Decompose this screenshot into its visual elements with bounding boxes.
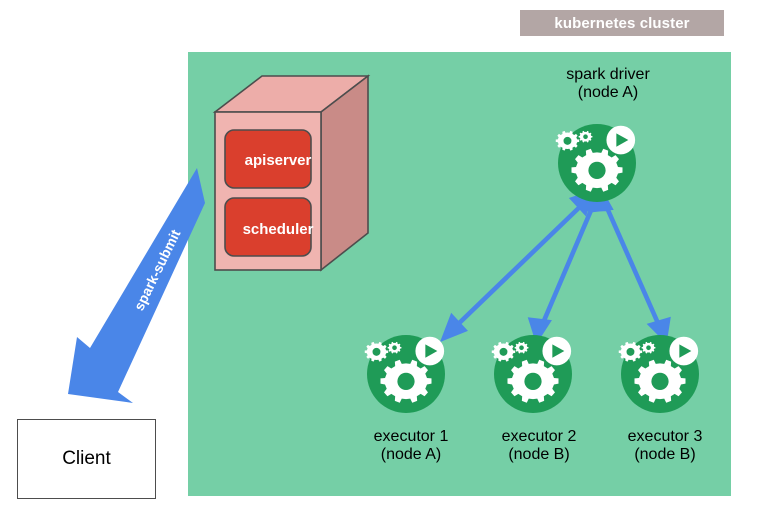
kubernetes-cluster-banner-label: kubernetes cluster <box>554 15 689 32</box>
spark-driver-title: spark driver <box>528 66 688 84</box>
spark-driver-caption: spark driver (node A) <box>528 66 688 102</box>
control-plane-cube <box>215 76 368 270</box>
scheduler-label: scheduler <box>218 221 338 238</box>
spark-submit-arrow <box>68 168 205 403</box>
spark-driver-subtitle: (node A) <box>528 84 688 102</box>
apiserver-label: apiserver <box>218 152 338 169</box>
executor-3-caption: executor 3 (node B) <box>585 428 745 464</box>
client-label: Client <box>62 448 111 470</box>
executor-3-subtitle: (node B) <box>585 446 745 464</box>
kubernetes-cluster-banner: kubernetes cluster <box>520 10 724 36</box>
client-box[interactable]: Client <box>17 419 156 499</box>
executor-3-title: executor 3 <box>585 428 745 446</box>
